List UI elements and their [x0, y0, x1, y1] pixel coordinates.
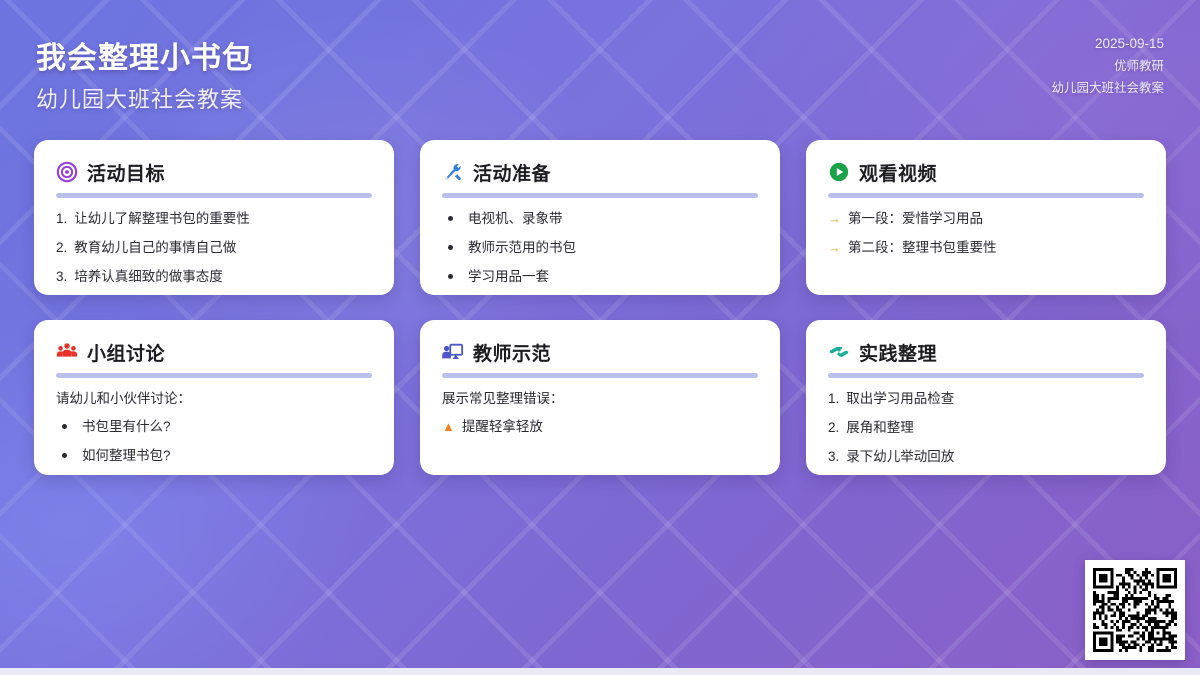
- card-title: 活动目标: [87, 159, 165, 186]
- list-item: 如何整理书包?: [56, 447, 372, 464]
- item-number: 3.: [56, 268, 67, 285]
- slide-canvas: 我会整理小书包 幼儿园大班社会教案 2025-09-15 优师教研 幼儿园大班社…: [0, 0, 1200, 675]
- item-text: 让幼儿了解整理书包的重要性: [74, 210, 250, 227]
- meta-date: 2025-09-15: [1051, 33, 1164, 55]
- page-title: 我会整理小书包: [36, 33, 253, 77]
- list-item: 2. 教育幼儿自己的事情自己做: [56, 239, 372, 256]
- item-text: 电视机、录象带: [468, 210, 563, 227]
- arrow-icon: →: [828, 239, 841, 256]
- card-title: 活动准备: [473, 159, 551, 186]
- list-item: → 第一段：爱惜学习用品: [828, 210, 1144, 227]
- item-number: 2.: [56, 239, 67, 256]
- card-rule: [56, 193, 372, 198]
- preparation-list: 电视机、录象带 教师示范用的书包 学习用品一套: [442, 210, 758, 285]
- card-teacher-demo[interactable]: 教师示范 展示常见整理错误： ▲ 提醒轻拿轻放: [420, 320, 780, 475]
- list-item: 2. 展角和整理: [828, 419, 1144, 436]
- bullet-dot: [448, 216, 453, 221]
- bullet-dot: [448, 245, 453, 250]
- item-text: 录下幼儿举动回放: [846, 448, 954, 465]
- card-rule: [442, 193, 758, 198]
- list-item: 教师示范用的书包: [442, 239, 758, 256]
- item-text: 第一段：爱惜学习用品: [848, 210, 983, 227]
- card-header: 教师示范: [442, 338, 758, 366]
- header-meta: 2025-09-15 优师教研 幼儿园大班社会教案: [1051, 33, 1164, 99]
- item-text: 提醒轻拿轻放: [462, 418, 543, 435]
- card-preparation[interactable]: 活动准备 电视机、录象带 教师示范用的书包 学习用品一套: [420, 140, 780, 295]
- item-text: 第二段：整理书包重要性: [848, 239, 997, 256]
- card-rule: [828, 373, 1144, 378]
- card-title: 教师示范: [473, 339, 551, 366]
- list-item: 书包里有什么?: [56, 418, 372, 435]
- item-text: 教师示范用的书包: [468, 239, 576, 256]
- item-text: 培养认真细致的做事态度: [74, 268, 223, 285]
- card-title: 实践整理: [859, 339, 937, 366]
- list-item: ▲ 提醒轻拿轻放: [442, 418, 758, 435]
- presentation-icon: [442, 341, 464, 363]
- card-title: 观看视频: [859, 159, 937, 186]
- list-item: → 第二段：整理书包重要性: [828, 239, 1144, 256]
- card-rule: [442, 373, 758, 378]
- demo-list: ▲ 提醒轻拿轻放: [442, 418, 758, 435]
- item-text: 书包里有什么?: [82, 418, 171, 435]
- item-text: 展角和整理: [846, 419, 914, 436]
- item-number: 1.: [56, 210, 67, 227]
- objectives-list: 1. 让幼儿了解整理书包的重要性 2. 教育幼儿自己的事情自己做 3. 培养认真…: [56, 210, 372, 285]
- card-rule: [828, 193, 1144, 198]
- card-header: 小组讨论: [56, 338, 372, 366]
- demo-intro: 展示常见整理错误：: [442, 390, 758, 407]
- card-header: 观看视频: [828, 158, 1144, 186]
- list-item: 学习用品一套: [442, 268, 758, 285]
- list-item: 1. 取出学习用品检查: [828, 390, 1144, 407]
- item-text: 教育幼儿自己的事情自己做: [74, 239, 236, 256]
- item-text: 取出学习用品检查: [846, 390, 954, 407]
- discussion-list: 书包里有什么? 如何整理书包?: [56, 418, 372, 464]
- page-subtitle: 幼儿园大班社会教案: [36, 82, 243, 114]
- bottom-strip: [0, 668, 1200, 675]
- arrow-icon: →: [828, 210, 841, 227]
- warning-triangle-icon: ▲: [442, 418, 455, 435]
- item-text: 如何整理书包?: [82, 447, 171, 464]
- qr-code: [1093, 568, 1177, 652]
- qr-code-container[interactable]: [1085, 560, 1185, 660]
- card-group-discussion[interactable]: 小组讨论 请幼儿和小伙伴讨论： 书包里有什么? 如何整理书包?: [34, 320, 394, 475]
- discussion-intro: 请幼儿和小伙伴讨论：: [56, 390, 372, 407]
- slide-header: 我会整理小书包 幼儿园大班社会教案 2025-09-15 优师教研 幼儿园大班社…: [0, 0, 1200, 130]
- item-number: 2.: [828, 419, 839, 436]
- card-watch-video[interactable]: 观看视频 → 第一段：爱惜学习用品 → 第二段：整理书包重要性: [806, 140, 1166, 295]
- item-text: 学习用品一套: [468, 268, 549, 285]
- card-header: 活动目标: [56, 158, 372, 186]
- list-item: 3. 录下幼儿举动回放: [828, 448, 1144, 465]
- card-grid: 活动目标 1. 让幼儿了解整理书包的重要性 2. 教育幼儿自己的事情自己做 3.…: [34, 140, 1166, 475]
- play-icon: [828, 161, 850, 183]
- target-icon: [56, 161, 78, 183]
- item-number: 1.: [828, 390, 839, 407]
- practice-list: 1. 取出学习用品检查 2. 展角和整理 3. 录下幼儿举动回放: [828, 390, 1144, 465]
- card-rule: [56, 373, 372, 378]
- card-header: 活动准备: [442, 158, 758, 186]
- list-item: 1. 让幼儿了解整理书包的重要性: [56, 210, 372, 227]
- list-item: 3. 培养认真细致的做事态度: [56, 268, 372, 285]
- list-item: 电视机、录象带: [442, 210, 758, 227]
- video-segments-list: → 第一段：爱惜学习用品 → 第二段：整理书包重要性: [828, 210, 1144, 256]
- card-title: 小组讨论: [87, 339, 165, 366]
- meta-organization: 优师教研: [1051, 55, 1164, 77]
- bullet-dot: [448, 274, 453, 279]
- card-objectives[interactable]: 活动目标 1. 让幼儿了解整理书包的重要性 2. 教育幼儿自己的事情自己做 3.…: [34, 140, 394, 295]
- item-number: 3.: [828, 448, 839, 465]
- people-icon: [56, 341, 78, 363]
- bullet-dot: [62, 424, 67, 429]
- tools-icon: [442, 161, 464, 183]
- bullet-dot: [62, 453, 67, 458]
- hands-icon: [828, 341, 850, 363]
- meta-course: 幼儿园大班社会教案: [1051, 77, 1164, 99]
- card-practice[interactable]: 实践整理 1. 取出学习用品检查 2. 展角和整理 3. 录下幼儿举动回放: [806, 320, 1166, 475]
- card-header: 实践整理: [828, 338, 1144, 366]
